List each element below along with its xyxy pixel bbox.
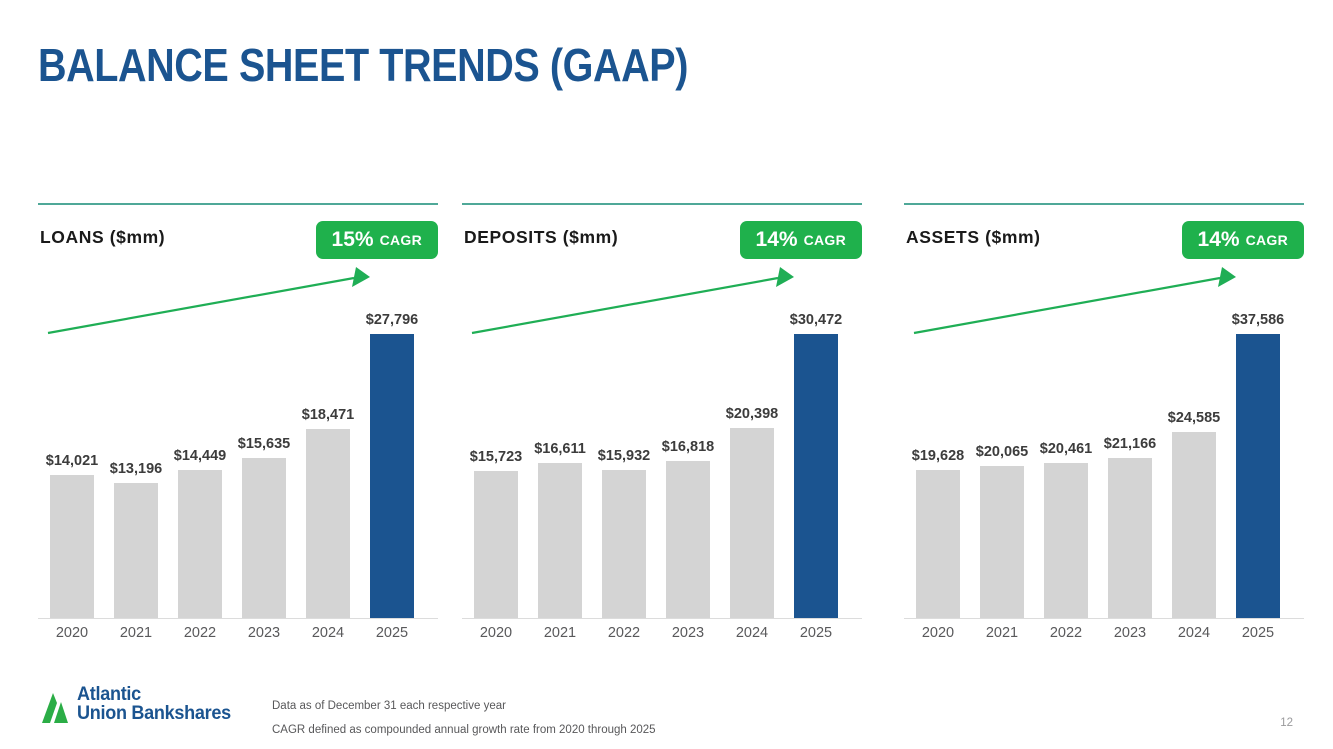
chart-panel-deposits: DEPOSITS ($mm) 14% CAGR $15,723$16,611$1… (462, 203, 862, 648)
bar-group: $37,586 (1236, 263, 1280, 618)
bar-value-label: $27,796 (366, 312, 418, 328)
x-axis-label-2022: 2022 (602, 625, 646, 641)
bar-group: $19,628 (916, 263, 960, 618)
bar-group: $15,723 (474, 263, 518, 618)
panel-title-deposits: DEPOSITS ($mm) (464, 227, 618, 248)
chart-panel-loans: LOANS ($mm) 15% CAGR $14,021$13,196$14,4… (38, 203, 438, 648)
bar-2020 (50, 475, 94, 618)
cagr-badge-deposits: 14% CAGR (740, 221, 862, 259)
bar-group: $15,932 (602, 263, 646, 618)
bar-2023 (1108, 458, 1152, 618)
bar-group: $14,449 (178, 263, 222, 618)
cagr-badge-loans: 15% CAGR (316, 221, 438, 259)
footnote-data-as-of: Data as of December 31 each respective y… (272, 700, 656, 712)
page-title: BALANCE SHEET TRENDS (GAAP) (38, 38, 688, 92)
x-axis-label-2022: 2022 (178, 625, 222, 641)
footnotes: Data as of December 31 each respective y… (272, 700, 656, 748)
bar-2024 (1172, 432, 1216, 618)
bar-group: $30,472 (794, 263, 838, 618)
x-axis-label-2021: 2021 (114, 625, 158, 641)
bar-group: $13,196 (114, 263, 158, 618)
bar-2024 (306, 429, 350, 618)
x-axis-line (904, 618, 1304, 619)
panel-top-rule (462, 203, 862, 205)
logo-line-1: Atlantic (77, 685, 231, 704)
plot-area: $19,628$20,065$20,461$21,166$24,585$37,5… (904, 263, 1304, 618)
x-axis-label-2023: 2023 (242, 625, 286, 641)
atlantic-union-mark-icon (40, 683, 70, 725)
bar-2022 (602, 470, 646, 618)
panel-title-loans: LOANS ($mm) (40, 227, 165, 248)
bar-group: $20,065 (980, 263, 1024, 618)
x-axis-label-2021: 2021 (538, 625, 582, 641)
bar-value-label: $14,021 (46, 453, 98, 469)
slide-canvas: BALANCE SHEET TRENDS (GAAP) LOANS ($mm) … (0, 0, 1333, 749)
chart-panel-assets: ASSETS ($mm) 14% CAGR $19,628$20,065$20,… (904, 203, 1304, 648)
x-axis-label-2020: 2020 (474, 625, 518, 641)
panel-header: LOANS ($mm) 15% CAGR (38, 221, 438, 259)
bar-2022 (178, 470, 222, 618)
bar-value-label: $24,585 (1168, 410, 1220, 426)
bar-2021 (538, 463, 582, 618)
x-axis-label-2020: 2020 (916, 625, 960, 641)
bar-2025 (1236, 334, 1280, 618)
bar-value-label: $15,635 (238, 436, 290, 452)
bar-value-label: $18,471 (302, 407, 354, 423)
cagr-value: 14% (1198, 228, 1240, 252)
bar-chart-loans: $14,021$13,196$14,449$15,635$18,471$27,7… (38, 263, 438, 648)
cagr-label: CAGR (380, 232, 422, 248)
bar-group: $27,796 (370, 263, 414, 618)
panel-title-assets: ASSETS ($mm) (906, 227, 1041, 248)
bar-value-label: $16,611 (534, 441, 586, 457)
x-axis-line (38, 618, 438, 619)
logo-wordmark: Atlantic Union Bankshares (77, 685, 231, 723)
logo-line-2: Union Bankshares (77, 704, 231, 723)
cagr-label: CAGR (1246, 232, 1288, 248)
x-axis-label-2023: 2023 (1108, 625, 1152, 641)
panel-header: ASSETS ($mm) 14% CAGR (904, 221, 1304, 259)
bar-2024 (730, 428, 774, 618)
bar-group: $16,611 (538, 263, 582, 618)
bar-value-label: $13,196 (110, 461, 162, 477)
cagr-label: CAGR (804, 232, 846, 248)
bar-2020 (474, 471, 518, 618)
x-axis-label-2021: 2021 (980, 625, 1024, 641)
bar-value-label: $16,818 (662, 439, 714, 455)
page-number: 12 (1280, 717, 1293, 729)
cagr-value: 14% (756, 228, 798, 252)
bar-value-label: $15,723 (470, 449, 522, 465)
x-axis-label-2023: 2023 (666, 625, 710, 641)
bar-group: $15,635 (242, 263, 286, 618)
plot-area: $15,723$16,611$15,932$16,818$20,398$30,4… (462, 263, 862, 618)
bar-group: $16,818 (666, 263, 710, 618)
x-axis-label-2022: 2022 (1044, 625, 1088, 641)
company-logo: Atlantic Union Bankshares (40, 683, 239, 725)
bar-value-label: $14,449 (174, 448, 226, 464)
cagr-badge-assets: 14% CAGR (1182, 221, 1304, 259)
bar-value-label: $37,586 (1232, 312, 1284, 328)
panel-top-rule (38, 203, 438, 205)
bar-2025 (794, 334, 838, 618)
x-axis-label-2025: 2025 (1236, 625, 1280, 641)
bar-2021 (114, 483, 158, 618)
bar-2021 (980, 466, 1024, 618)
bar-group: $14,021 (50, 263, 94, 618)
bar-chart-assets: $19,628$20,065$20,461$21,166$24,585$37,5… (904, 263, 1304, 648)
bar-value-label: $30,472 (790, 312, 842, 328)
bar-2023 (666, 461, 710, 618)
bar-group: $24,585 (1172, 263, 1216, 618)
panel-header: DEPOSITS ($mm) 14% CAGR (462, 221, 862, 259)
x-axis-label-2024: 2024 (1172, 625, 1216, 641)
plot-area: $14,021$13,196$14,449$15,635$18,471$27,7… (38, 263, 438, 618)
x-axis-label-2025: 2025 (370, 625, 414, 641)
footnote-cagr-definition: CAGR defined as compounded annual growth… (272, 724, 656, 736)
x-axis-label-2020: 2020 (50, 625, 94, 641)
bar-value-label: $19,628 (912, 448, 964, 464)
bar-value-label: $15,932 (598, 448, 650, 464)
bar-2020 (916, 470, 960, 618)
panel-top-rule (904, 203, 1304, 205)
x-axis-label-2024: 2024 (306, 625, 350, 641)
bar-value-label: $20,398 (726, 406, 778, 422)
x-axis-line (462, 618, 862, 619)
bar-value-label: $20,461 (1040, 441, 1092, 457)
bar-group: $20,461 (1044, 263, 1088, 618)
bar-2022 (1044, 463, 1088, 618)
bar-2023 (242, 458, 286, 618)
bar-value-label: $21,166 (1104, 436, 1156, 452)
bar-group: $18,471 (306, 263, 350, 618)
bar-group: $20,398 (730, 263, 774, 618)
bar-value-label: $20,065 (976, 444, 1028, 460)
x-axis-label-2025: 2025 (794, 625, 838, 641)
bar-chart-deposits: $15,723$16,611$15,932$16,818$20,398$30,4… (462, 263, 862, 648)
bar-2025 (370, 334, 414, 618)
cagr-value: 15% (332, 228, 374, 252)
x-axis-label-2024: 2024 (730, 625, 774, 641)
bar-group: $21,166 (1108, 263, 1152, 618)
